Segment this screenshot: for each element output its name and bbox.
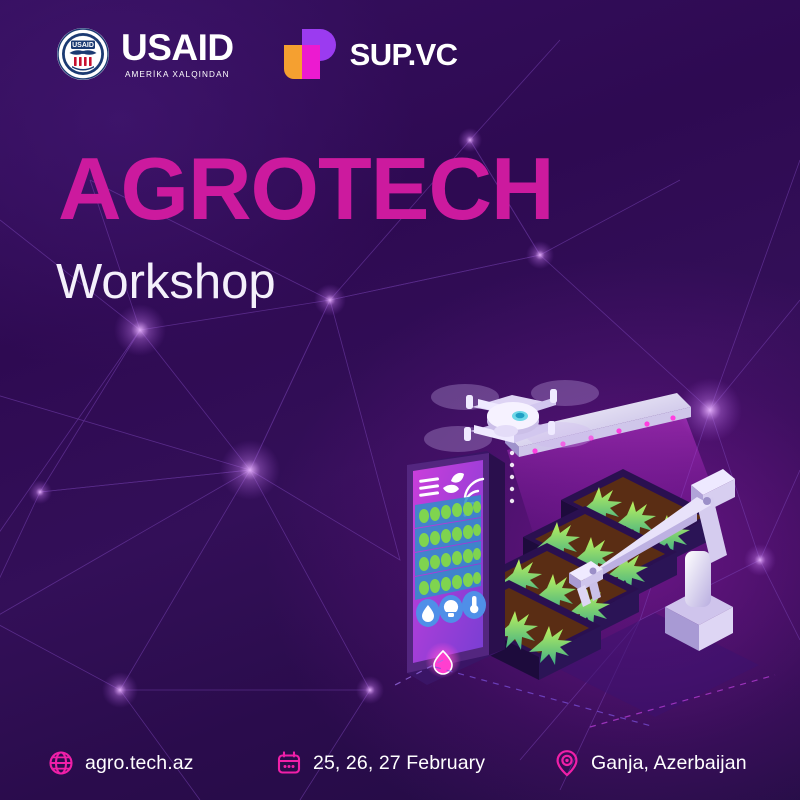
page-subtitle: Workshop <box>56 258 276 307</box>
header-logos: USAID USAID USAID AMERİKA XALQINDAN <box>55 26 457 82</box>
page-title: AGROTECH <box>58 145 554 233</box>
footer-item-website[interactable]: agro.tech.az <box>48 750 276 776</box>
dates-label: 25, 26, 27 February <box>313 752 485 775</box>
usaid-wordmark: USAID <box>121 29 234 66</box>
svg-text:USAID: USAID <box>72 42 94 49</box>
globe-icon <box>48 750 74 776</box>
plant-status-grid <box>415 495 481 600</box>
venue-label: Ganja, Azerbaijan <box>591 752 747 775</box>
usaid-logo: USAID USAID USAID AMERİKA XALQINDAN <box>55 26 234 82</box>
hamburger-menu-icon[interactable] <box>419 477 439 497</box>
usaid-seal-icon: USAID USAID <box>55 26 111 82</box>
supvc-logo: SUP.VC <box>280 27 458 81</box>
supvc-logo-icon <box>280 27 338 81</box>
footer-item-venue: Ganja, Azerbaijan <box>554 749 747 777</box>
smartphone-icon <box>407 451 505 685</box>
usaid-tagline: AMERİKA XALQINDAN <box>125 70 230 79</box>
location-pin-icon <box>554 749 580 777</box>
footer-item-dates: 25, 26, 27 February <box>276 750 554 776</box>
poster-canvas: USAID USAID USAID AMERİKA XALQINDAN <box>0 0 800 800</box>
website-label: agro.tech.az <box>85 752 194 775</box>
smart-farm-isometric-illustration <box>355 355 785 735</box>
calendar-icon <box>276 750 302 776</box>
footer-bar: agro.tech.az 25, 26, 27 February Ganja, … <box>0 726 800 800</box>
supvc-wordmark: SUP.VC <box>350 39 458 70</box>
